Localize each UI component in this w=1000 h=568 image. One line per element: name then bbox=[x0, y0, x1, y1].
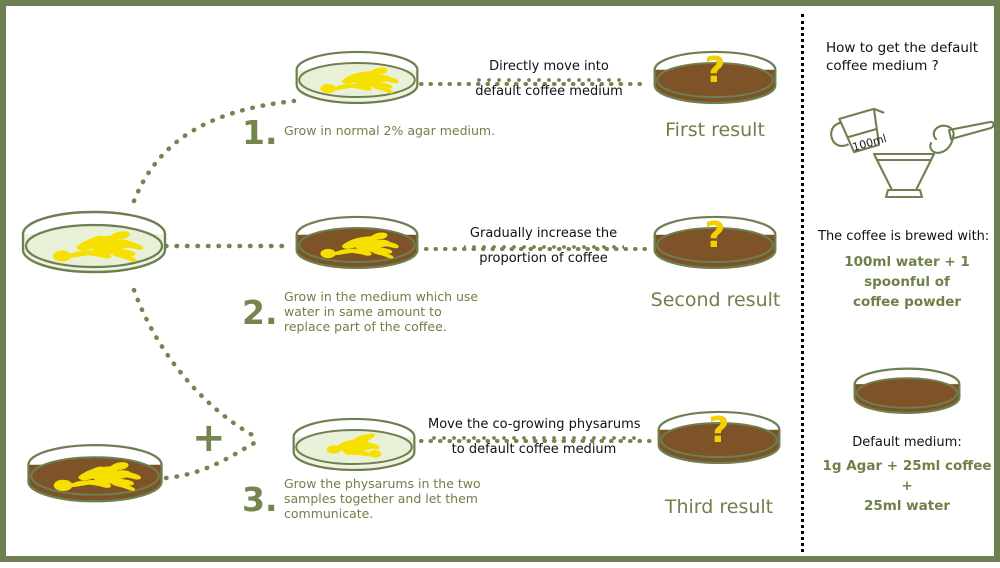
step-1-arrow-label: Directly move into default coffee medium bbox=[464, 59, 634, 100]
step-3-arrow-dots bbox=[430, 435, 638, 441]
second-result-label: Second result bbox=[638, 289, 793, 311]
panel-divider bbox=[801, 14, 804, 552]
sidebar-brew-info: The coffee is brewed with: 100ml water +… bbox=[818, 228, 996, 312]
sidebar-question-line2: coffee medium ? bbox=[826, 57, 991, 75]
step-3-number: 3. bbox=[242, 483, 278, 516]
step-3-arrow-label-line1: Move the co-growing physarums bbox=[428, 417, 640, 433]
first-result-dish: ? bbox=[647, 44, 783, 116]
step-2-arrow-dots bbox=[464, 244, 624, 250]
step-2-arrow-label-line2: proportion of coffee bbox=[461, 251, 626, 267]
sidebar-default-line1: 1g Agar + 25ml coffee + bbox=[818, 456, 996, 496]
step-2-text: Grow in the medium which use water in sa… bbox=[284, 289, 479, 334]
sidebar-default-heading: Default medium: bbox=[818, 434, 996, 452]
step-2-dish bbox=[289, 209, 425, 281]
step-1-arrow-label-line2: default coffee medium bbox=[464, 84, 634, 100]
sidebar-brew-line2: coffee powder bbox=[818, 292, 996, 312]
step-3-text: Grow the physarums in the two samples to… bbox=[284, 476, 484, 521]
figure-canvas: + 1. Grow in normal 2% agar medium. Dire… bbox=[0, 0, 1000, 562]
sidebar-default-medium-info: Default medium: 1g Agar + 25ml coffee + … bbox=[818, 434, 996, 516]
filter-cone-icon bbox=[874, 154, 934, 197]
step-3-dish bbox=[286, 411, 422, 483]
source-agar-dish bbox=[14, 204, 174, 284]
first-result-label: First result bbox=[647, 119, 783, 141]
sidebar-default-line2: 25ml water bbox=[818, 496, 996, 516]
step-1-text: Grow in normal 2% agar medium. bbox=[284, 123, 499, 138]
step-1-number: 1. bbox=[242, 116, 278, 149]
brewing-icons: 100ml bbox=[818, 102, 998, 207]
step-2-number: 2. bbox=[242, 296, 278, 329]
sidebar-question: How to get the default coffee medium ? bbox=[826, 39, 991, 75]
step-2-arrow-label: Gradually increase the proportion of cof… bbox=[461, 226, 626, 267]
default-medium-dish bbox=[848, 362, 966, 424]
first-result-question-mark: ? bbox=[647, 50, 783, 91]
second-result-dish: ? bbox=[647, 209, 783, 281]
step-2-arrow-label-line1: Gradually increase the bbox=[461, 226, 626, 242]
step-3-arrow-label-line2: to default coffee medium bbox=[428, 442, 640, 458]
source-coffee-dish bbox=[20, 436, 170, 516]
second-result-question-mark: ? bbox=[647, 215, 783, 256]
step-3-arrow-label: Move the co-growing physarums to default… bbox=[428, 417, 640, 458]
sidebar-question-line1: How to get the default bbox=[826, 39, 991, 57]
spoon-icon bbox=[930, 122, 993, 153]
sidebar-brew-line1: 100ml water + 1 spoonful of bbox=[818, 252, 996, 292]
sidebar-brew-heading: The coffee is brewed with: bbox=[818, 228, 996, 246]
plus-symbol: + bbox=[192, 418, 226, 458]
third-result-label: Third result bbox=[651, 496, 787, 518]
third-result-question-mark: ? bbox=[651, 410, 787, 451]
step-1-arrow-dots bbox=[471, 77, 627, 83]
step-1-dish bbox=[289, 44, 425, 116]
step-1-arrow-label-line1: Directly move into bbox=[464, 59, 634, 75]
third-result-dish: ? bbox=[651, 404, 787, 476]
